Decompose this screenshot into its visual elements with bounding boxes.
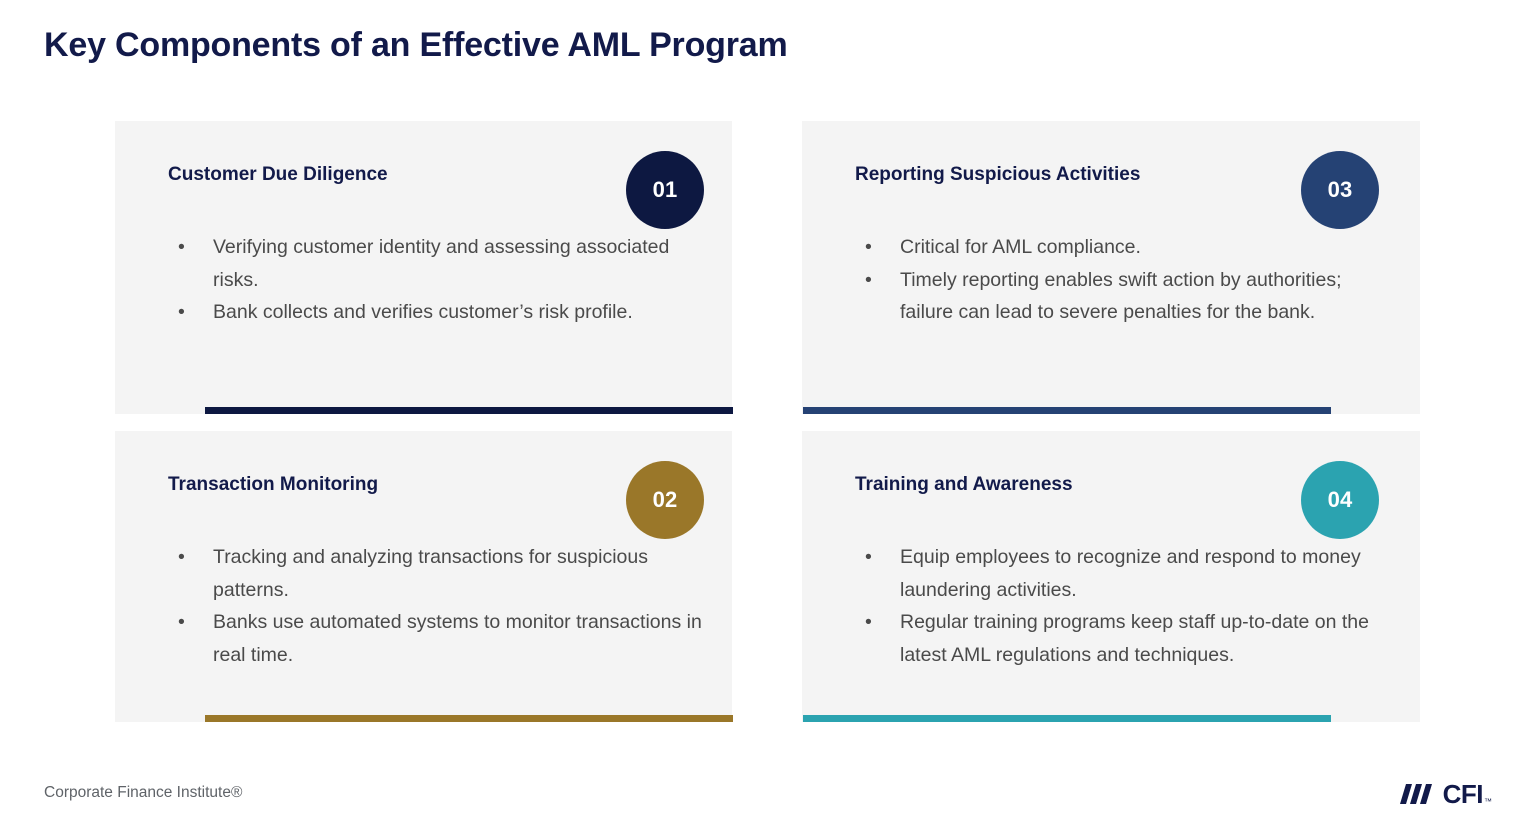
- list-item-text: Equip employees to recognize and respond…: [900, 546, 1361, 601]
- list-item-text: Banks use automated systems to monitor t…: [213, 611, 702, 666]
- card-customer-due-diligence: Customer Due Diligence 01 • Verifying cu…: [115, 121, 732, 414]
- list-item: • Regular training programs keep staff u…: [852, 606, 1396, 671]
- cfi-bars-icon: [1398, 782, 1438, 806]
- page-title: Key Components of an Effective AML Progr…: [44, 22, 788, 68]
- card-title: Reporting Suspicious Activities: [855, 163, 1140, 187]
- bullet-icon: •: [178, 231, 185, 264]
- bullet-icon: •: [865, 606, 872, 639]
- footer-credit: Corporate Finance Institute®: [44, 783, 242, 803]
- card-accent-bar: [205, 715, 733, 722]
- card-bullet-list: • Tracking and analyzing transactions fo…: [165, 541, 708, 671]
- card-training-and-awareness: Training and Awareness 04 • Equip employ…: [802, 431, 1420, 722]
- list-item: • Critical for AML compliance.: [852, 231, 1396, 264]
- card-bullet-list: • Critical for AML compliance. • Timely …: [852, 231, 1396, 329]
- list-item-text: Timely reporting enables swift action by…: [900, 269, 1341, 324]
- card-title: Transaction Monitoring: [168, 473, 378, 497]
- card-bullet-list: • Verifying customer identity and assess…: [165, 231, 708, 329]
- trademark-icon: ™: [1484, 797, 1492, 806]
- card-number-badge: 04: [1301, 461, 1379, 539]
- card-number-badge: 02: [626, 461, 704, 539]
- card-accent-bar: [803, 715, 1331, 722]
- card-bullet-list: • Equip employees to recognize and respo…: [852, 541, 1396, 671]
- cfi-wordmark: CFI: [1443, 781, 1483, 807]
- card-title: Customer Due Diligence: [168, 163, 388, 187]
- list-item: • Tracking and analyzing transactions fo…: [165, 541, 708, 606]
- card-number-badge: 03: [1301, 151, 1379, 229]
- list-item: • Verifying customer identity and assess…: [165, 231, 708, 296]
- list-item-text: Bank collects and verifies customer’s ri…: [213, 301, 633, 323]
- list-item-text: Regular training programs keep staff up-…: [900, 611, 1369, 666]
- card-accent-bar: [803, 407, 1331, 414]
- bullet-icon: •: [865, 231, 872, 264]
- card-title: Training and Awareness: [855, 473, 1073, 497]
- card-grid: Customer Due Diligence 01 • Verifying cu…: [0, 121, 1536, 722]
- card-accent-bar: [205, 407, 733, 414]
- card-number-badge: 01: [626, 151, 704, 229]
- list-item-text: Tracking and analyzing transactions for …: [213, 546, 648, 601]
- list-item-text: Verifying customer identity and assessin…: [213, 236, 669, 291]
- list-item: • Bank collects and verifies customer’s …: [165, 296, 708, 329]
- bullet-icon: •: [178, 606, 185, 639]
- list-item: • Equip employees to recognize and respo…: [852, 541, 1396, 606]
- card-transaction-monitoring: Transaction Monitoring 02 • Tracking and…: [115, 431, 732, 722]
- bullet-icon: •: [865, 541, 872, 574]
- list-item: • Timely reporting enables swift action …: [852, 264, 1396, 329]
- cfi-logo: CFI ™: [1398, 779, 1492, 809]
- list-item-text: Critical for AML compliance.: [900, 236, 1141, 258]
- bullet-icon: •: [865, 264, 872, 297]
- card-reporting-suspicious-activities: Reporting Suspicious Activities 03 • Cri…: [802, 121, 1420, 414]
- bullet-icon: •: [178, 296, 185, 329]
- bullet-icon: •: [178, 541, 185, 574]
- list-item: • Banks use automated systems to monitor…: [165, 606, 708, 671]
